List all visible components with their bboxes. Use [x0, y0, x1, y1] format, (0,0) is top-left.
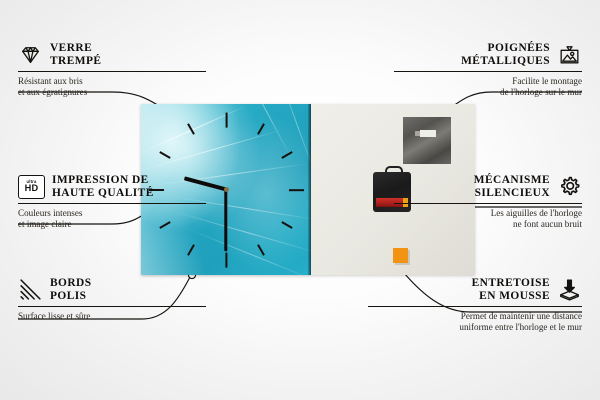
feature-description: Surface lisse et sûre [18, 311, 206, 322]
gear-icon [557, 174, 582, 199]
clock-tick [187, 244, 195, 255]
feature-verre-trempe: VERRE TREMPÉ Résistant aux bris et aux é… [18, 42, 206, 97]
feature-description: Facilite le montage de l'horloge sur le … [394, 76, 582, 97]
feature-mecanisme-silencieux: MÉCANISME SILENCIEUX Les aiguilles de l'… [394, 174, 582, 229]
feature-title: POIGNÉES MÉTALLIQUES [461, 42, 550, 67]
feature-bords-polis: BORDS POLIS Surface lisse et sûre [18, 277, 206, 322]
feature-title: MÉCANISME SILENCIEUX [474, 174, 550, 199]
feature-title: IMPRESSION DE HAUTE QUALITÉ [52, 174, 154, 199]
feature-description: Couleurs intenses et image claire [18, 208, 206, 229]
diamond-icon [18, 42, 43, 67]
bracket-slot [420, 130, 436, 137]
hd-badge-main-text: HD [25, 184, 39, 193]
feature-description: Permet de maintenir une distance uniform… [368, 311, 582, 332]
divider [18, 203, 206, 204]
feature-title: VERRE TREMPÉ [50, 42, 101, 67]
divider [394, 71, 582, 72]
foam-spacer [393, 248, 408, 263]
clock-tick [225, 112, 227, 127]
metal-hanging-bracket [403, 117, 451, 164]
divider [394, 203, 582, 204]
feature-title: BORDS POLIS [50, 277, 92, 302]
clock-tick [289, 189, 304, 191]
divider [18, 71, 206, 72]
feature-poignees-metalliques: POIGNÉES MÉTALLIQUES Facilite le montage… [394, 42, 582, 97]
clock-tick [225, 252, 227, 267]
feature-impression-haute-qualite: ultra HD IMPRESSION DE HAUTE QUALITÉ Cou… [18, 174, 206, 229]
foam-spacer-icon [557, 277, 582, 302]
clock-minute-hand [225, 189, 228, 251]
feature-description: Les aiguilles de l'horloge ne font aucun… [394, 208, 582, 229]
polished-edge-icon [18, 277, 43, 302]
hanging-frame-icon [557, 42, 582, 67]
feature-description: Résistant aux bris et aux égratignures [18, 76, 206, 97]
divider [18, 306, 206, 307]
infographic-canvas: VERRE TREMPÉ Résistant aux bris et aux é… [0, 0, 600, 400]
ultra-hd-badge-icon: ultra HD [18, 175, 45, 199]
divider [368, 306, 582, 307]
feature-title: ENTRETOISE EN MOUSSE [472, 277, 550, 302]
feature-entretoise-en-mousse: ENTRETOISE EN MOUSSE Permet de maintenir… [368, 277, 582, 332]
